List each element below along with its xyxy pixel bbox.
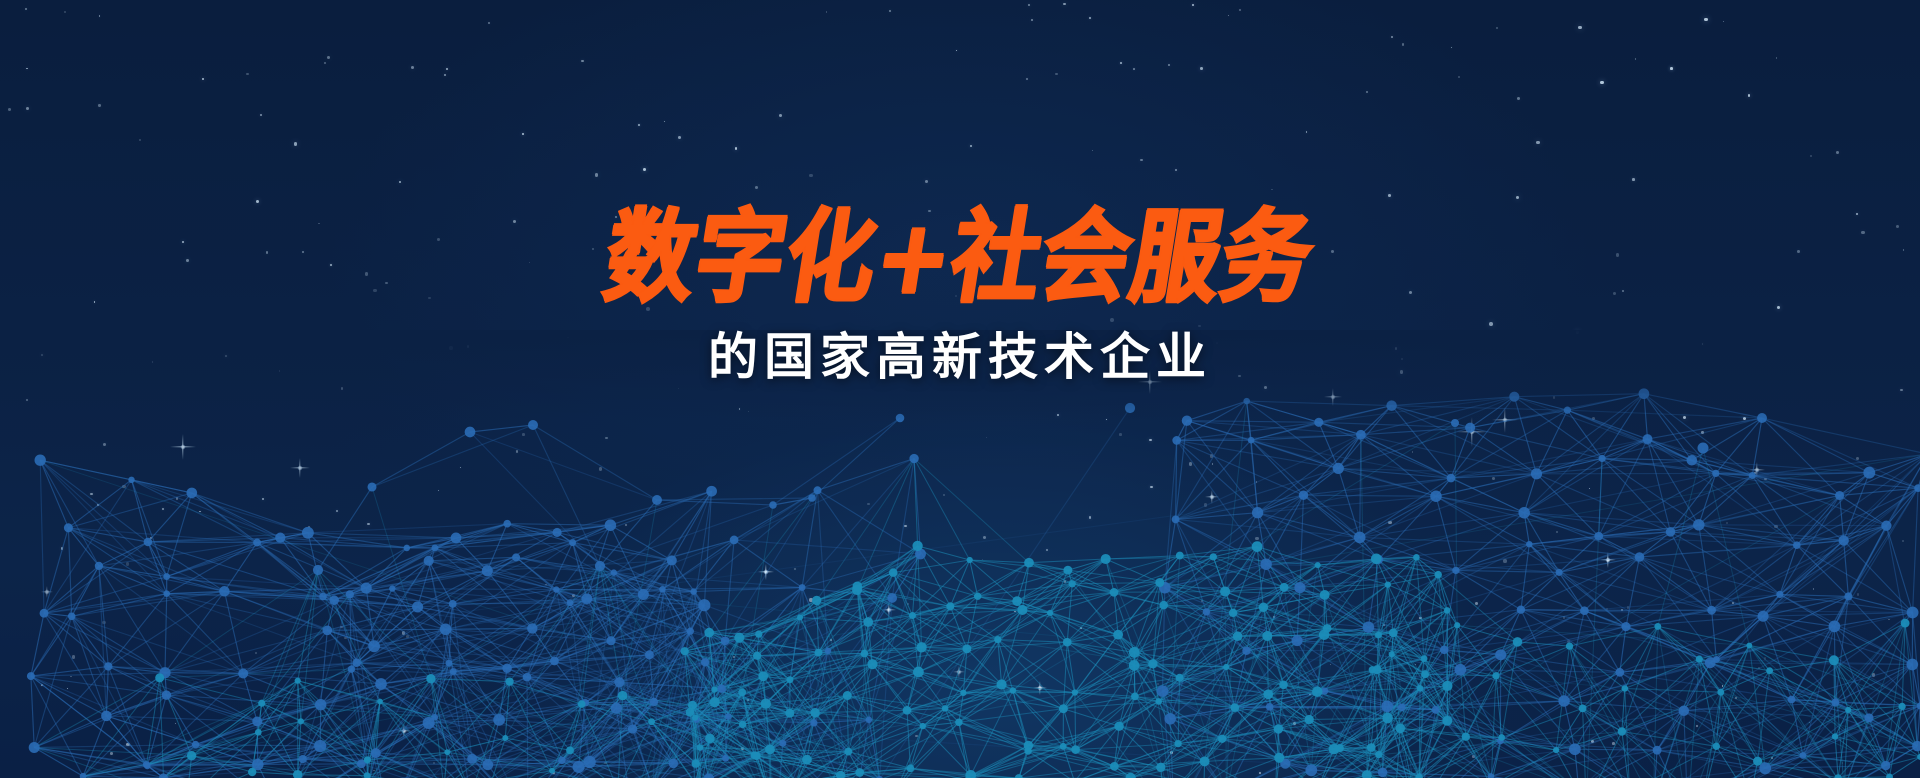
polygonal-network-mesh: [0, 0, 1920, 778]
hero-banner: 数字化+社会服务 的国家高新技术企业: [0, 0, 1920, 778]
